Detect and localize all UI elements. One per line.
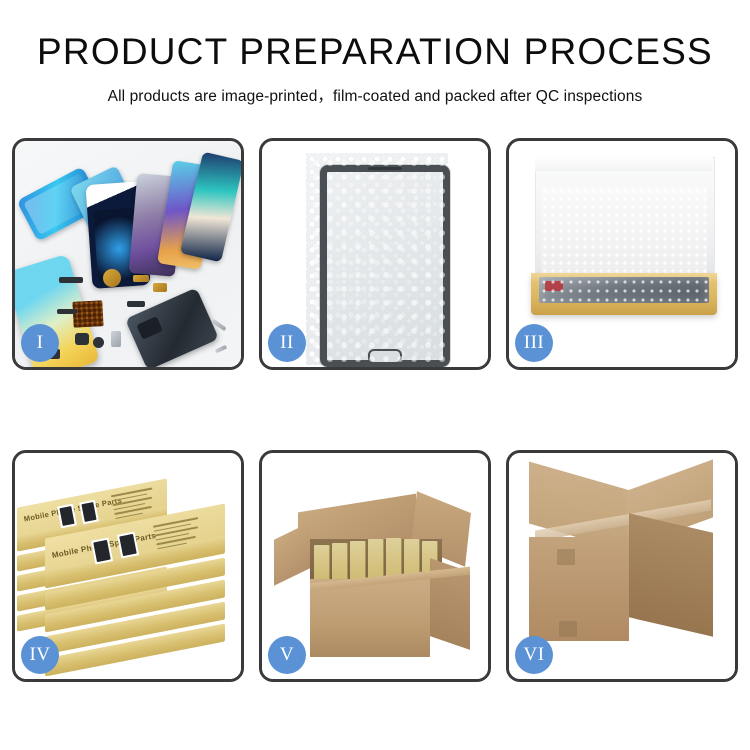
photo-open-kraft-box: III — [509, 141, 735, 367]
carton-front-panel — [529, 537, 629, 641]
part-flex-strip-1 — [59, 277, 83, 283]
photo-stacked-kraft-boxes: Mobile Phone Spare Parts Mobile Phone Sp… — [15, 453, 241, 679]
part-camera-module — [75, 333, 89, 345]
infographic-page: PRODUCT PREPARATION PROCESS All products… — [0, 0, 750, 750]
carton-flap-left — [274, 522, 310, 586]
process-step-card-2: II — [259, 138, 491, 370]
part-connector-2 — [153, 283, 167, 292]
carton-handle-hole-top — [557, 549, 575, 565]
phone-back-housing — [125, 288, 219, 367]
photo-open-carton-with-boxes: V — [262, 453, 488, 679]
step-badge-6: VI — [515, 636, 553, 674]
part-screwdriver — [215, 345, 228, 354]
part-connector-1 — [133, 275, 149, 282]
step-badge-1: I — [21, 324, 59, 362]
process-step-card-1: I — [12, 138, 244, 370]
step-badge-3: III — [515, 324, 553, 362]
process-step-card-6: VI — [506, 450, 738, 682]
header: PRODUCT PREPARATION PROCESS All products… — [0, 0, 750, 106]
photo-sealed-carton: VI — [509, 453, 735, 679]
wrapped-screen-bubble-texture — [539, 277, 709, 303]
step-badge-5: V — [268, 636, 306, 674]
photo-bubble-wrapped-screen: II — [262, 141, 488, 367]
chip-array-part — [72, 300, 103, 328]
packed-box-2 — [332, 543, 348, 583]
phone-glass-panel — [320, 165, 450, 367]
process-step-card-3: III — [506, 138, 738, 370]
step-badge-4: IV — [21, 636, 59, 674]
carton-front-face — [310, 579, 430, 657]
process-step-card-5: V — [259, 450, 491, 682]
process-step-card-4: Mobile Phone Spare Parts Mobile Phone Sp… — [12, 450, 244, 682]
step-badge-2: II — [268, 324, 306, 362]
part-flex-strip-2 — [57, 309, 77, 314]
page-subtitle: All products are image-printed，film-coat… — [0, 84, 750, 106]
part-flex-strip-3 — [127, 301, 145, 307]
part-sim-tray — [111, 331, 121, 347]
part-speaker-coil — [103, 269, 121, 287]
carton-handle-hole-bottom — [559, 621, 577, 637]
box-lid-highlight — [535, 157, 713, 171]
process-step-grid: I II III — [12, 138, 738, 682]
foam-padding — [541, 187, 707, 281]
photo-phone-screens-and-parts: I — [15, 141, 241, 367]
part-button — [93, 337, 104, 348]
page-title: PRODUCT PREPARATION PROCESS — [0, 32, 750, 73]
carton-side-panel — [629, 513, 713, 636]
packed-box-1 — [314, 545, 330, 583]
